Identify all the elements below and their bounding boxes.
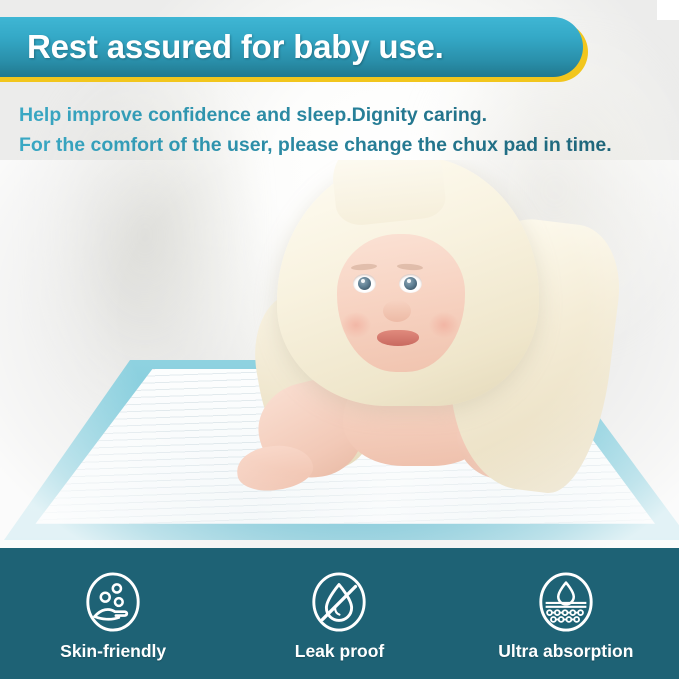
baby-brow-left xyxy=(351,263,377,271)
baby-iris-left xyxy=(358,277,371,290)
header-banner: Rest assured for baby use. xyxy=(0,17,583,77)
baby-face xyxy=(337,234,465,372)
banner-title: Rest assured for baby use. xyxy=(0,28,444,66)
subtitle-line-1: Help improve confidence and sleep.Dignit… xyxy=(19,100,669,130)
baby-mouth xyxy=(377,330,419,346)
feature-label-skin-friendly: Skin-friendly xyxy=(60,641,166,662)
subtitle-block: Help improve confidence and sleep.Dignit… xyxy=(19,100,669,160)
baby-cheek-left xyxy=(341,312,371,338)
ultra-absorption-icon xyxy=(535,571,597,633)
baby-cheek-right xyxy=(429,312,459,338)
baby-eye-left xyxy=(353,274,376,293)
baby-figure xyxy=(215,160,635,490)
feature-list: Skin-friendly Leak proof xyxy=(0,548,679,679)
feature-footer: Skin-friendly Leak proof xyxy=(0,548,679,679)
skin-friendly-icon xyxy=(82,571,144,633)
top-right-notch xyxy=(657,0,679,20)
leak-proof-icon xyxy=(308,571,370,633)
subtitle-line-2: For the comfort of the user, please chan… xyxy=(19,130,669,160)
baby-eye-right xyxy=(399,274,422,293)
baby-iris-right xyxy=(404,277,417,290)
hero-photo xyxy=(0,160,679,560)
feature-ultra-absorption: Ultra absorption xyxy=(453,548,679,679)
product-feature-image: Rest assured for baby use. Help improve … xyxy=(0,0,679,679)
feature-label-ultra-absorption: Ultra absorption xyxy=(498,641,633,662)
feature-leak-proof: Leak proof xyxy=(226,548,452,679)
baby-nose xyxy=(383,300,411,322)
feature-skin-friendly: Skin-friendly xyxy=(0,548,226,679)
baby-brow-right xyxy=(397,263,423,271)
feature-label-leak-proof: Leak proof xyxy=(295,641,384,662)
